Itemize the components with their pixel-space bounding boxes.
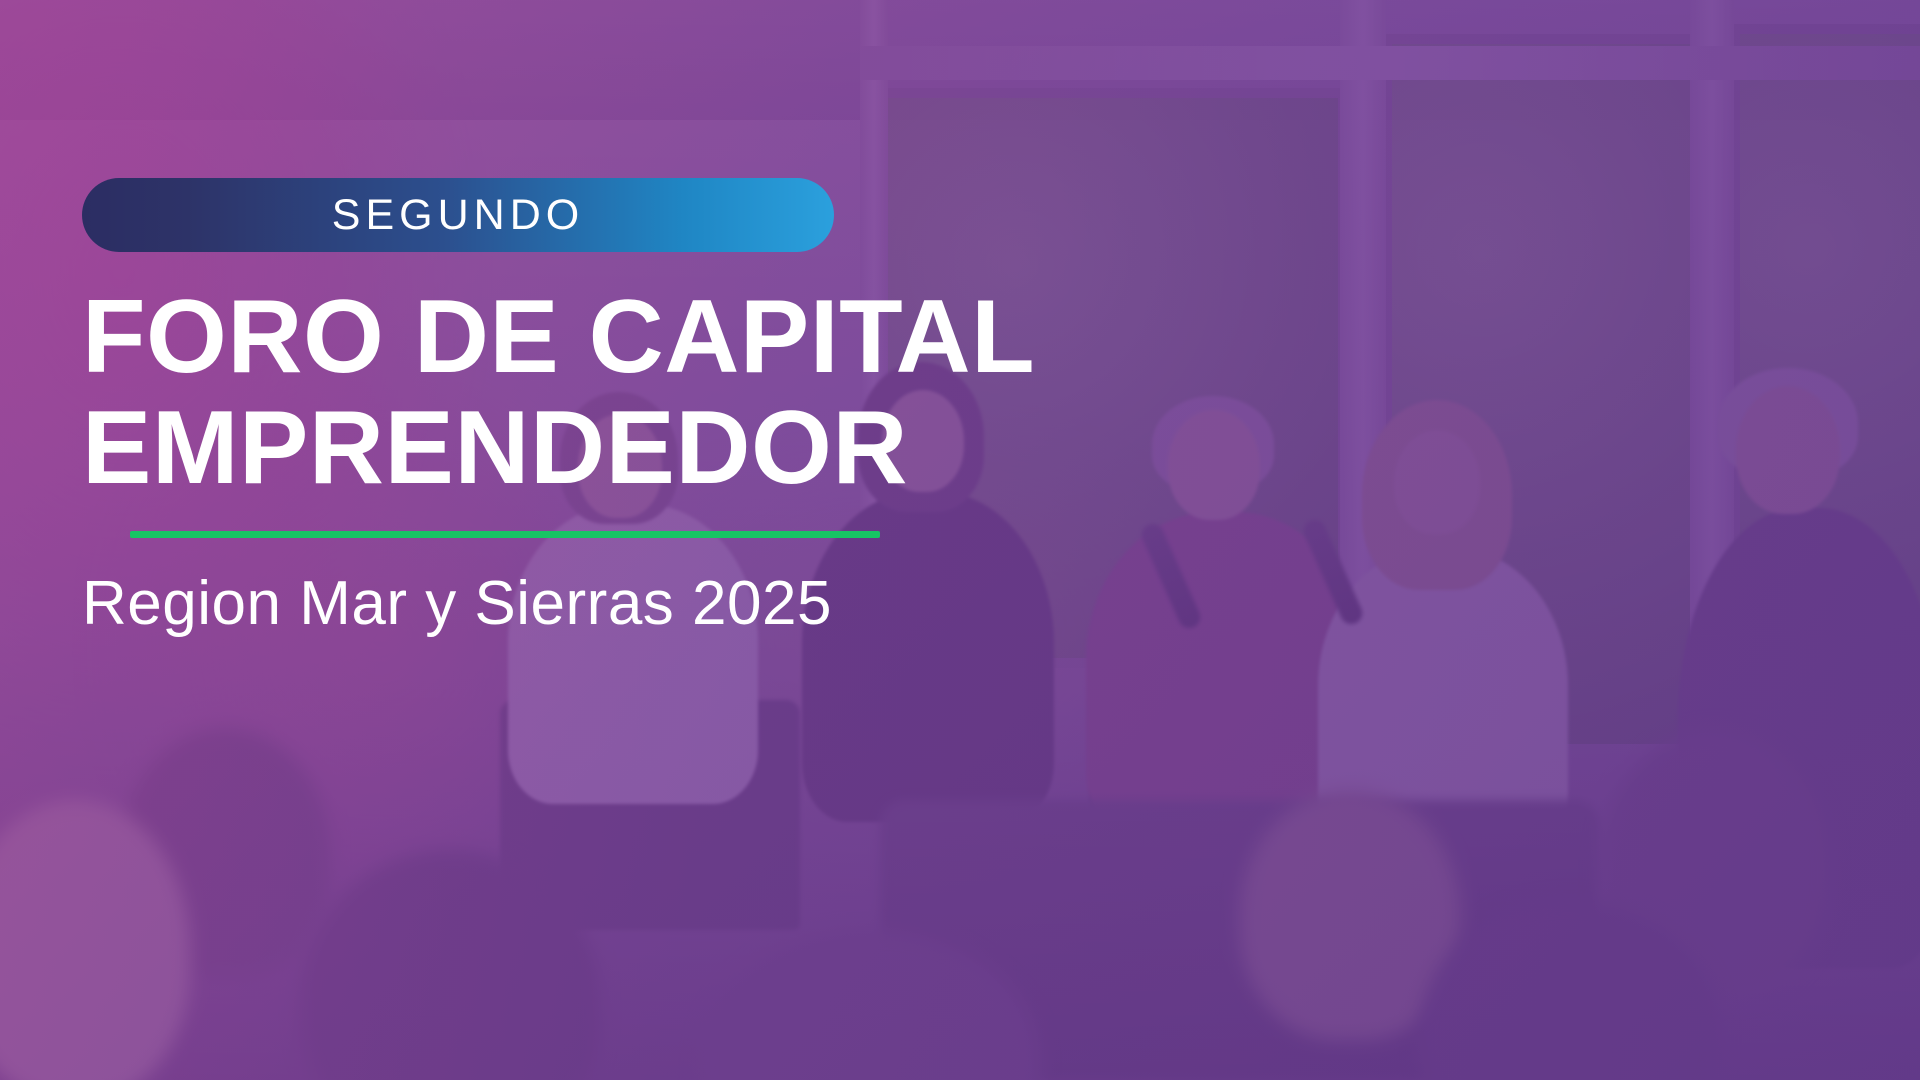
subtitle: Region Mar y Sierras 2025: [82, 570, 1382, 638]
title-line-1: FORO DE CAPITAL: [82, 282, 1382, 393]
edition-badge-label: SEGUNDO: [332, 194, 584, 237]
banner-content: SEGUNDO FORO DE CAPITAL EMPRENDEDOR Regi…: [82, 178, 1382, 638]
page-title: FORO DE CAPITAL EMPRENDEDOR: [82, 282, 1382, 505]
edition-badge: SEGUNDO: [82, 178, 834, 252]
title-line-2: EMPRENDEDOR: [82, 393, 1382, 504]
green-divider: [130, 531, 880, 538]
event-banner: SEGUNDO FORO DE CAPITAL EMPRENDEDOR Regi…: [0, 0, 1920, 1080]
